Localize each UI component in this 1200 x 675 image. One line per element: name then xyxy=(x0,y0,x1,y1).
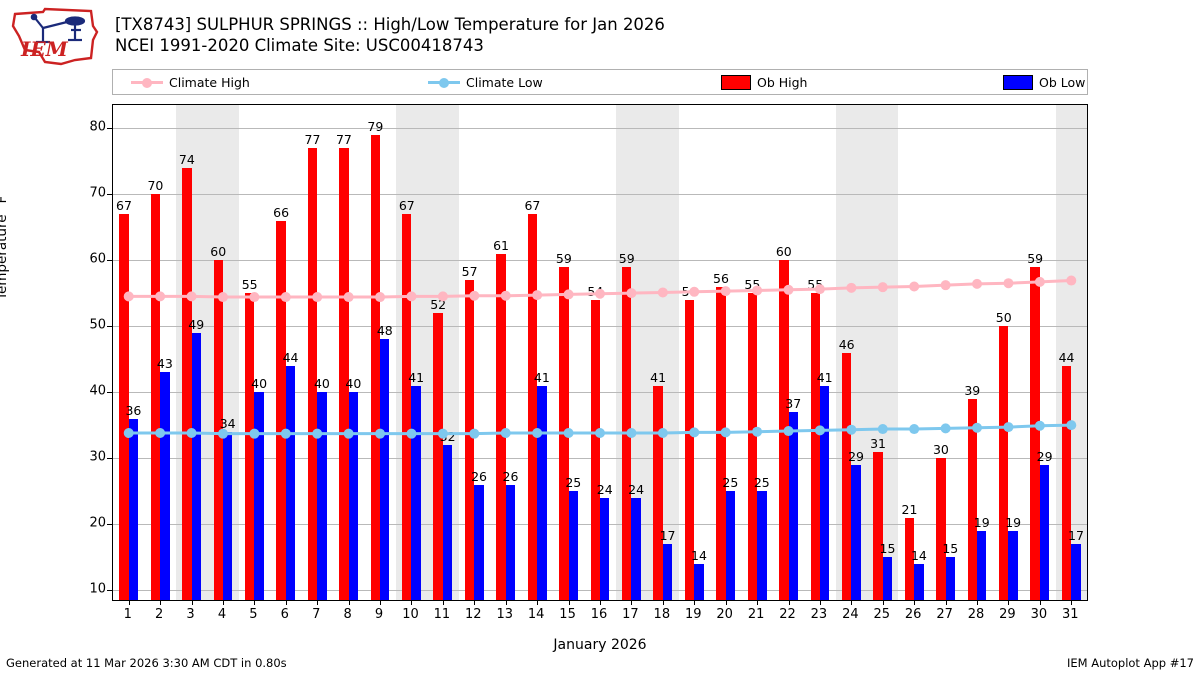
climate-high-marker xyxy=(658,287,668,297)
x-tick-label-day-11: 11 xyxy=(434,607,451,622)
x-tick-label-day-27: 27 xyxy=(936,607,953,622)
y-tick-label: 10 xyxy=(46,582,106,597)
iem-logo[interactable]: IEM xyxy=(5,6,101,68)
climate-high-marker xyxy=(187,291,197,301)
legend-item-climate-low[interactable]: Climate Low xyxy=(428,70,543,94)
climate-high-marker xyxy=(972,279,982,289)
x-tick-mark xyxy=(254,600,255,605)
climate-high-marker xyxy=(626,288,636,298)
climate-high-marker xyxy=(941,280,951,290)
legend-item-climate-high[interactable]: Climate High xyxy=(131,70,250,94)
x-tick-mark xyxy=(851,600,852,605)
climate-high-marker xyxy=(595,289,605,299)
x-tick-label-day-19: 19 xyxy=(685,607,702,622)
chart-title-block: [TX8743] SULPHUR SPRINGS :: High/Low Tem… xyxy=(115,14,665,56)
climate-low-marker xyxy=(815,425,825,435)
climate-high-marker xyxy=(721,286,731,296)
iem-logo-text: IEM xyxy=(20,37,69,61)
x-tick-label-day-7: 7 xyxy=(312,607,320,622)
legend-item-ob-low[interactable]: Ob Low xyxy=(1003,70,1085,94)
climate-low-marker xyxy=(249,429,259,439)
plot-area: 6736704374496034554066447740774079486741… xyxy=(112,104,1088,601)
climate-low-marker xyxy=(344,429,354,439)
climate-low-marker xyxy=(689,427,699,437)
page-title: [TX8743] SULPHUR SPRINGS :: High/Low Tem… xyxy=(115,14,665,35)
x-tick-label-day-17: 17 xyxy=(622,607,639,622)
x-tick-label-day-15: 15 xyxy=(559,607,576,622)
x-tick-mark xyxy=(349,600,350,605)
y-tick-label: 70 xyxy=(46,186,106,201)
y-tick-label: 80 xyxy=(46,120,106,135)
x-tick-mark xyxy=(192,600,193,605)
x-tick-label-day-23: 23 xyxy=(811,607,828,622)
climate-low-marker xyxy=(658,428,668,438)
climate-low-marker xyxy=(375,429,385,439)
climate-low-marker xyxy=(469,429,479,439)
climate-lines-layer xyxy=(113,105,1087,600)
y-tick-label: 60 xyxy=(46,252,106,267)
x-tick-mark xyxy=(663,600,664,605)
x-tick-label-day-18: 18 xyxy=(654,607,671,622)
x-tick-label-day-2: 2 xyxy=(155,607,163,622)
climate-high-marker xyxy=(846,283,856,293)
x-tick-mark xyxy=(129,600,130,605)
climate-low-marker xyxy=(878,424,888,434)
x-tick-mark xyxy=(946,600,947,605)
climate-low-marker xyxy=(972,423,982,433)
climate-high-marker xyxy=(406,291,416,301)
legend-swatch-icon xyxy=(1003,75,1033,90)
x-tick-mark xyxy=(694,600,695,605)
climate-high-marker xyxy=(344,292,354,302)
x-tick-mark xyxy=(600,600,601,605)
x-tick-label-day-29: 29 xyxy=(999,607,1016,622)
y-tick-label: 20 xyxy=(46,516,106,531)
legend-line-marker-icon xyxy=(428,77,460,87)
climate-low-marker xyxy=(909,424,919,434)
legend-line-marker-icon xyxy=(131,77,163,87)
x-tick-mark xyxy=(631,600,632,605)
x-tick-label-day-9: 9 xyxy=(375,607,383,622)
x-tick-mark xyxy=(757,600,758,605)
x-tick-mark xyxy=(506,600,507,605)
climate-low-marker xyxy=(532,428,542,438)
climate-low-marker xyxy=(218,429,228,439)
climate-high-marker xyxy=(784,285,794,295)
climate-high-marker xyxy=(469,291,479,301)
y-tick-label: 50 xyxy=(46,318,106,333)
climate-low-marker xyxy=(438,429,448,439)
climate-high-marker xyxy=(815,284,825,294)
legend-swatch-icon xyxy=(721,75,751,90)
x-tick-mark xyxy=(411,600,412,605)
y-tick-label: 30 xyxy=(46,450,106,465)
x-tick-mark xyxy=(1008,600,1009,605)
x-tick-label-day-4: 4 xyxy=(218,607,226,622)
climate-low-marker xyxy=(1066,420,1076,430)
climate-high-marker xyxy=(375,292,385,302)
climate-low-marker xyxy=(784,426,794,436)
climate-high-marker xyxy=(878,282,888,292)
x-tick-label-day-21: 21 xyxy=(748,607,765,622)
x-tick-mark xyxy=(1071,600,1072,605)
x-tick-label-day-12: 12 xyxy=(465,607,482,622)
climate-high-marker xyxy=(909,282,919,292)
climate-high-marker xyxy=(752,285,762,295)
x-tick-label-day-6: 6 xyxy=(281,607,289,622)
y-axis-label: Temperature °F xyxy=(0,196,10,300)
x-tick-mark xyxy=(569,600,570,605)
legend-item-label: Ob Low xyxy=(1039,75,1085,90)
x-tick-label-day-16: 16 xyxy=(591,607,608,622)
x-tick-label-day-30: 30 xyxy=(1031,607,1048,622)
climate-low-marker xyxy=(721,427,731,437)
x-tick-mark xyxy=(317,600,318,605)
x-tick-label-day-28: 28 xyxy=(968,607,985,622)
climate-high-marker xyxy=(1066,276,1076,286)
climate-high-marker xyxy=(1035,277,1045,287)
x-tick-label-day-24: 24 xyxy=(842,607,859,622)
x-tick-mark xyxy=(977,600,978,605)
x-tick-mark xyxy=(223,600,224,605)
climate-high-marker xyxy=(564,289,574,299)
x-tick-label-day-13: 13 xyxy=(496,607,513,622)
y-tick-label: 40 xyxy=(46,384,106,399)
x-tick-mark xyxy=(1040,600,1041,605)
x-tick-mark xyxy=(914,600,915,605)
x-tick-mark xyxy=(160,600,161,605)
footer-app-text: IEM Autoplot App #17 xyxy=(1067,656,1194,670)
x-tick-mark xyxy=(726,600,727,605)
x-tick-mark xyxy=(443,600,444,605)
x-tick-label-day-1: 1 xyxy=(124,607,132,622)
climate-low-marker xyxy=(501,428,511,438)
x-tick-mark xyxy=(537,600,538,605)
climate-low-marker xyxy=(124,428,134,438)
x-tick-label-day-26: 26 xyxy=(905,607,922,622)
climate-low-marker xyxy=(1035,421,1045,431)
page-subtitle: NCEI 1991-2020 Climate Site: USC00418743 xyxy=(115,35,665,56)
climate-high-marker xyxy=(281,292,291,302)
x-tick-label-day-8: 8 xyxy=(344,607,352,622)
x-tick-label-day-10: 10 xyxy=(402,607,419,622)
climate-low-marker xyxy=(595,428,605,438)
footer-generated-text: Generated at 11 Mar 2026 3:30 AM CDT in … xyxy=(6,656,287,670)
climate-high-marker xyxy=(532,290,542,300)
climate-low-marker xyxy=(187,428,197,438)
x-axis-label: January 2026 xyxy=(0,637,1200,653)
climate-low-marker xyxy=(312,429,322,439)
climate-high-marker xyxy=(124,291,134,301)
climate-high-marker xyxy=(689,287,699,297)
climate-low-marker xyxy=(752,427,762,437)
x-tick-mark xyxy=(474,600,475,605)
climate-low-marker xyxy=(941,423,951,433)
chart-legend: Climate HighClimate LowOb HighOb Low xyxy=(112,69,1088,95)
climate-low-marker xyxy=(281,429,291,439)
legend-item-label: Climate High xyxy=(169,75,250,90)
climate-high-marker xyxy=(312,292,322,302)
x-tick-mark xyxy=(286,600,287,605)
climate-high-marker xyxy=(155,291,165,301)
climate-low-marker xyxy=(1003,422,1013,432)
x-tick-mark xyxy=(820,600,821,605)
climate-high-marker xyxy=(501,291,511,301)
x-tick-label-day-22: 22 xyxy=(779,607,796,622)
x-tick-mark xyxy=(883,600,884,605)
x-tick-label-day-14: 14 xyxy=(528,607,545,622)
climate-high-marker xyxy=(438,291,448,301)
x-tick-label-day-3: 3 xyxy=(186,607,194,622)
climate-low-marker xyxy=(564,428,574,438)
x-tick-label-day-20: 20 xyxy=(716,607,733,622)
x-tick-label-day-25: 25 xyxy=(873,607,890,622)
legend-item-label: Climate Low xyxy=(466,75,543,90)
x-tick-mark xyxy=(789,600,790,605)
x-tick-mark xyxy=(380,600,381,605)
climate-low-marker xyxy=(155,428,165,438)
climate-low-marker xyxy=(626,428,636,438)
x-tick-label-day-31: 31 xyxy=(1062,607,1079,622)
climate-high-marker xyxy=(218,292,228,302)
legend-item-ob-high[interactable]: Ob High xyxy=(721,70,807,94)
climate-high-marker xyxy=(249,292,259,302)
x-tick-label-day-5: 5 xyxy=(249,607,257,622)
legend-item-label: Ob High xyxy=(757,75,807,90)
climate-high-marker xyxy=(1003,278,1013,288)
climate-low-marker xyxy=(406,429,416,439)
climate-low-marker xyxy=(846,425,856,435)
iem-logo-icon: IEM xyxy=(5,6,101,68)
